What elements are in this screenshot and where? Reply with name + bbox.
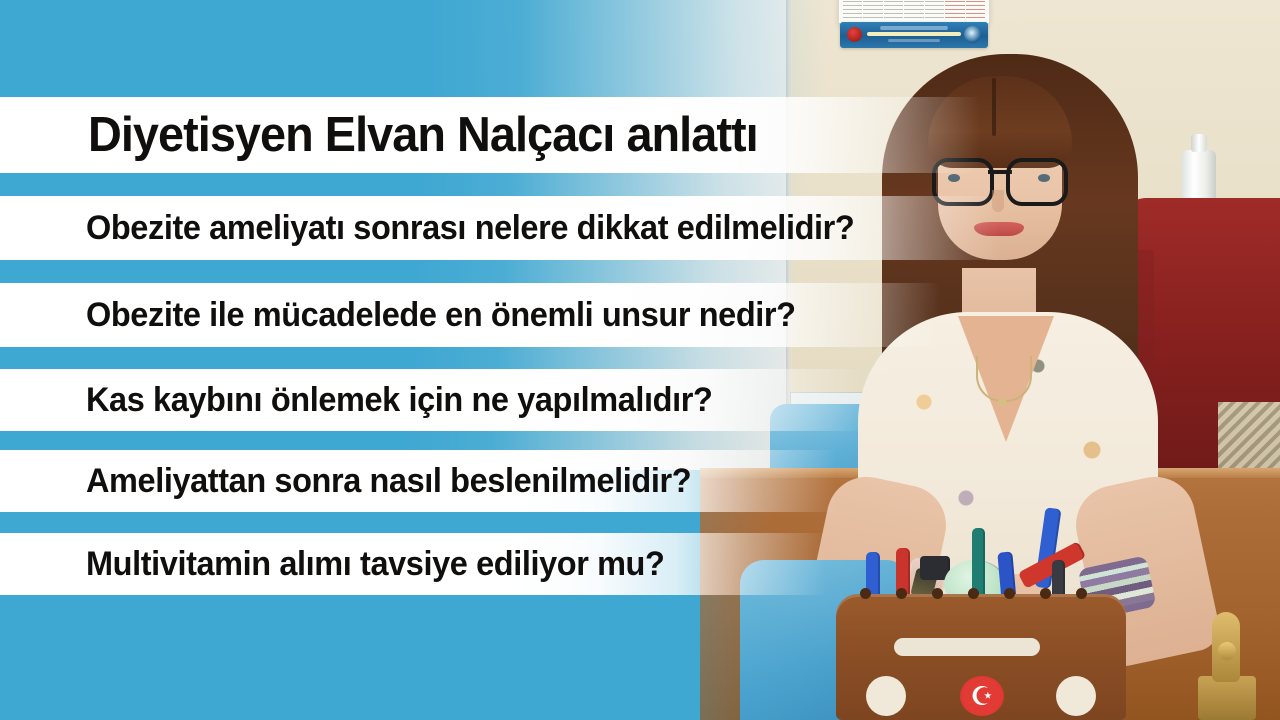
stripe-3	[0, 347, 860, 369]
question-band-1: Obezite ameliyatı sonrası nelere dikkat …	[0, 196, 1000, 260]
thumbnail-canvas: Diyetisyen Elvan Nalçacı anlattı Obezite…	[0, 0, 1280, 720]
stripe-1	[0, 173, 880, 196]
stripe-4	[0, 431, 850, 450]
toy-wheel-right	[1056, 676, 1096, 716]
stripe-2	[0, 260, 870, 283]
headline-band: Diyetisyen Elvan Nalçacı anlattı	[0, 97, 980, 173]
stripe-top	[0, 0, 900, 97]
right-lens	[1006, 158, 1068, 206]
question-band-3: Kas kaybını önlemek için ne yapılmalıdır…	[0, 369, 862, 431]
brass-figurine	[1196, 588, 1258, 720]
stripe-5	[0, 512, 840, 533]
necklace-pendant	[998, 398, 1007, 407]
turkish-flag-emblem	[960, 676, 1004, 716]
question-band-4: Ameliyattan sonra nasıl beslenilmelidir?	[0, 450, 836, 512]
question-text-1: Obezite ameliyatı sonrası nelere dikkat …	[86, 209, 854, 248]
hair-part	[992, 78, 996, 136]
question-band-2: Obezite ile mücadelede en önemli unsur n…	[0, 283, 940, 347]
necklace	[976, 356, 1032, 402]
question-text-2: Obezite ile mücadelede en önemli unsur n…	[86, 296, 796, 335]
toy-slot	[894, 638, 1040, 656]
page-title: Diyetisyen Elvan Nalçacı anlattı	[88, 107, 758, 163]
stripe-bottom	[0, 595, 900, 720]
question-text-4: Ameliyattan sonra nasıl beslenilmelidir?	[86, 462, 691, 501]
question-text-5: Multivitamin alımı tavsiye ediliyor mu?	[86, 545, 664, 584]
question-text-3: Kas kaybını önlemek için ne yapılmalıdır…	[86, 381, 712, 420]
question-band-5: Multivitamin alımı tavsiye ediliyor mu?	[0, 533, 826, 595]
